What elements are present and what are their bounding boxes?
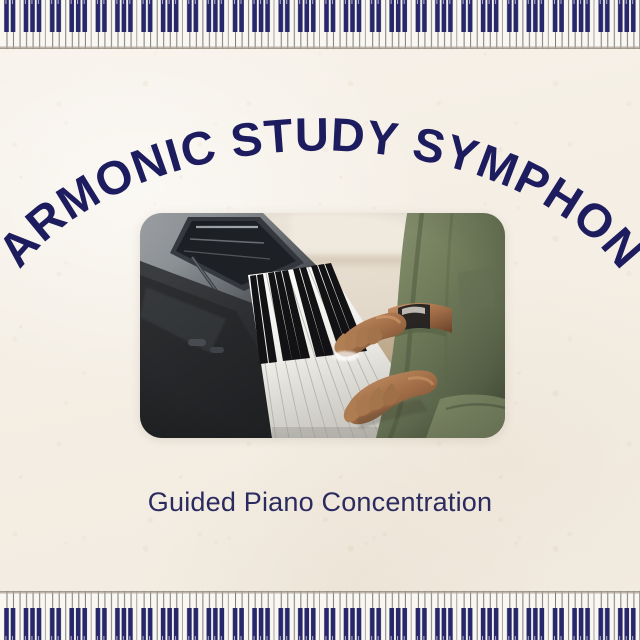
keyboard-top-svg [0, 0, 640, 49]
page-title-label: HARMONIC STUDY SYMPHONY [0, 15, 640, 278]
page-title: HARMONIC STUDY SYMPHONY [0, 58, 640, 258]
poster-canvas: HARMONIC STUDY SYMPHONY [0, 0, 640, 640]
title-text-path: HARMONIC STUDY SYMPHONY [0, 15, 640, 278]
keyboard-bottom-svg [0, 591, 640, 640]
piano-keyboard-border-bottom [0, 591, 640, 640]
piano-keyboard-border-top [0, 0, 640, 49]
subtitle: Guided Piano Concentration [0, 487, 640, 518]
